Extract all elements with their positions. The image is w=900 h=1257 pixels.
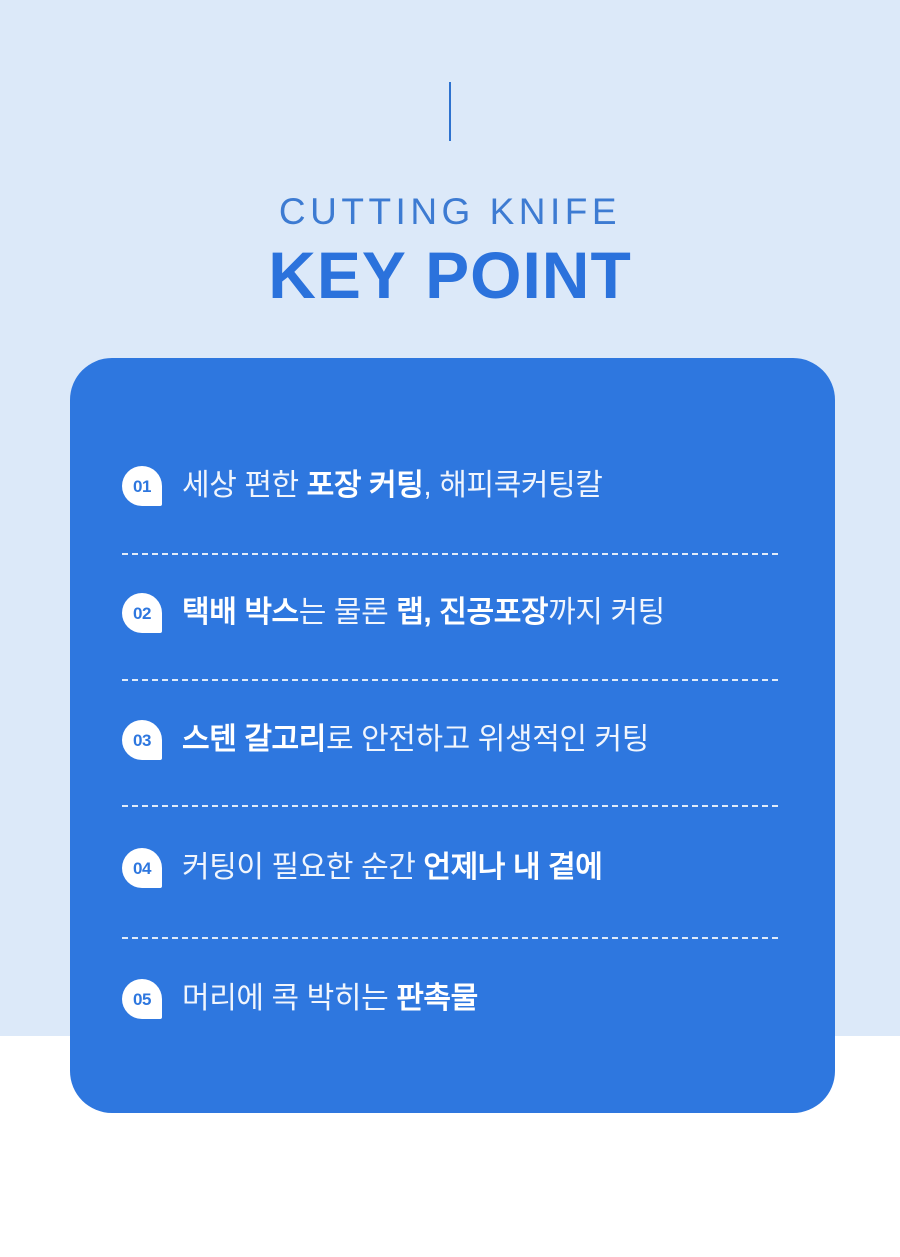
point-number-badge: 04: [122, 848, 162, 888]
point-number-badge: 03: [122, 720, 162, 760]
point-text: 커팅이 필요한 순간 언제나 내 곁에: [182, 848, 812, 888]
point-number-badge: 01: [122, 466, 162, 506]
list-item: 04 커팅이 필요한 순간 언제나 내 곁에: [122, 841, 812, 895]
list-item: 02 택배 박스는 물론 랩, 진공포장까지 커팅: [122, 586, 812, 640]
point-text: 세상 편한 포장 커팅, 해피쿡커팅칼: [182, 466, 812, 506]
header-eyebrow: CUTTING KNIFE: [0, 190, 900, 234]
page-title: KEY POINT: [0, 236, 900, 314]
point-number-badge: 02: [122, 593, 162, 633]
list-divider: [122, 937, 778, 939]
point-text: 머리에 콕 박히는 판촉물: [182, 979, 812, 1019]
list-divider: [122, 805, 778, 807]
list-item: 01 세상 편한 포장 커팅, 해피쿡커팅칼: [122, 459, 812, 513]
list-divider: [122, 679, 778, 681]
point-text: 택배 박스는 물론 랩, 진공포장까지 커팅: [182, 593, 812, 633]
list-item: 03 스텐 갈고리로 안전하고 위생적인 커팅: [122, 713, 812, 767]
list-divider: [122, 553, 778, 555]
key-point-card: 01 세상 편한 포장 커팅, 해피쿡커팅칼 02 택배 박스는 물론 랩, 진…: [70, 358, 835, 1113]
list-item: 05 머리에 콕 박히는 판촉물: [122, 972, 812, 1026]
key-point-list: 01 세상 편한 포장 커팅, 해피쿡커팅칼 02 택배 박스는 물론 랩, 진…: [70, 358, 835, 1113]
point-text: 스텐 갈고리로 안전하고 위생적인 커팅: [182, 720, 812, 760]
header-divider-tick-icon: [449, 82, 451, 141]
point-number-badge: 05: [122, 979, 162, 1019]
